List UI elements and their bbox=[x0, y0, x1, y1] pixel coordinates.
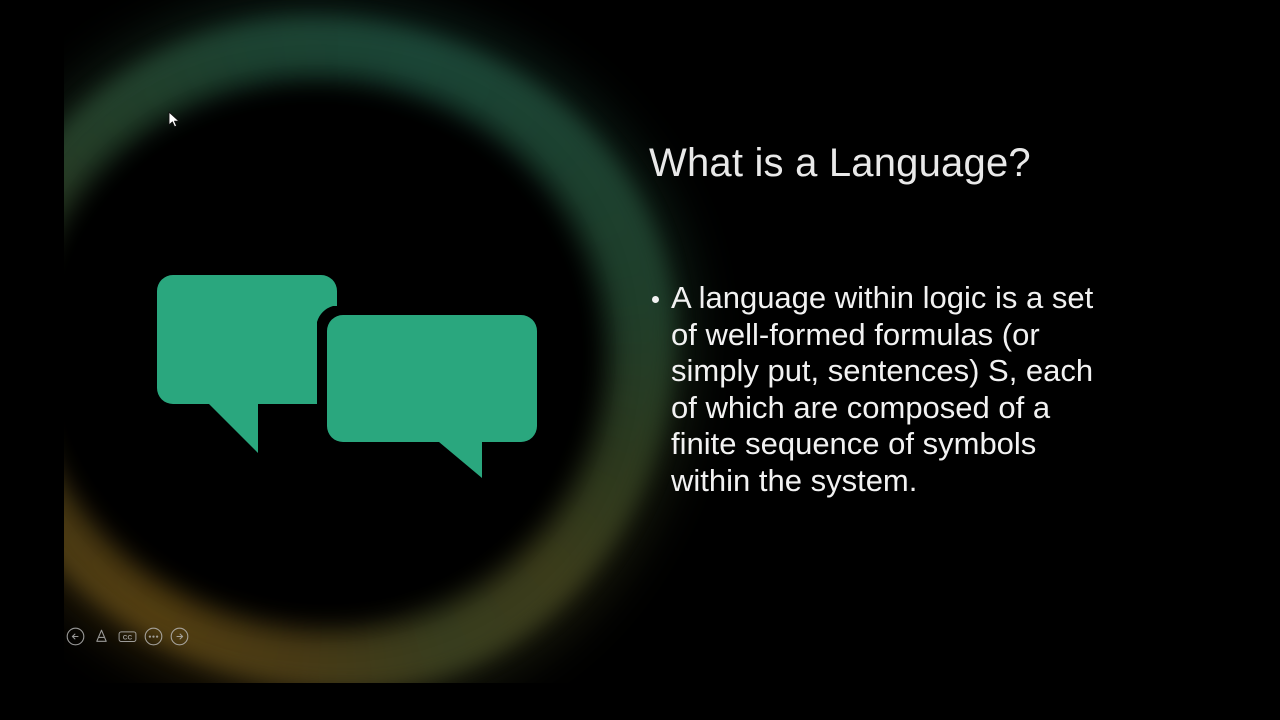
cc-icon: CC bbox=[118, 627, 137, 646]
arrow-right-circle-icon bbox=[170, 627, 189, 646]
slide-bullet-item: A language within logic is a set of well… bbox=[649, 280, 1111, 499]
closed-captions-button[interactable]: CC bbox=[118, 627, 137, 646]
speech-bubble-back bbox=[157, 275, 337, 453]
slide-bullet-list: A language within logic is a set of well… bbox=[649, 280, 1169, 499]
presentation-slide[interactable]: What is a Language? A language within lo… bbox=[64, 0, 1280, 683]
ellipsis-circle-icon bbox=[144, 627, 163, 646]
pen-triangle-icon bbox=[92, 627, 111, 646]
svg-text:CC: CC bbox=[123, 634, 133, 641]
screen: What is a Language? A language within lo… bbox=[0, 0, 1280, 720]
speech-bubble-front-group bbox=[317, 306, 547, 490]
ink-annotation-button[interactable] bbox=[92, 627, 111, 646]
slide-title: What is a Language? bbox=[649, 140, 1169, 186]
slide-text-column: What is a Language? A language within lo… bbox=[649, 140, 1169, 499]
more-options-button[interactable] bbox=[144, 627, 163, 646]
speech-bubble-front bbox=[327, 315, 537, 478]
slide-player-controls[interactable]: CC bbox=[66, 627, 189, 646]
previous-slide-button[interactable] bbox=[66, 627, 85, 646]
speech-bubbles-icon bbox=[157, 275, 547, 490]
next-slide-button[interactable] bbox=[170, 627, 189, 646]
arrow-left-circle-icon bbox=[66, 627, 85, 646]
